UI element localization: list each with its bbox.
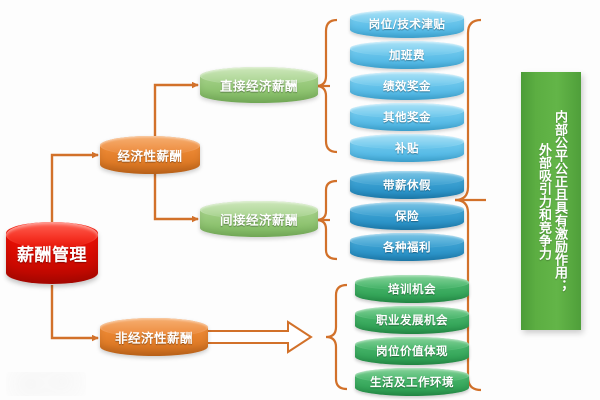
node-direct-economic[interactable]: 直接经济薪酬	[200, 67, 318, 103]
outcome-line-2: 外部吸引力和竞争力	[536, 143, 550, 260]
leaf-noneconomic-3[interactable]: 岗位价值体现	[355, 337, 469, 365]
node-noneconomic-label: 非经济性薪酬	[100, 328, 208, 347]
connector-layer	[0, 0, 600, 400]
node-economic[interactable]: 经济性薪酬	[100, 136, 200, 174]
leaf-direct-1[interactable]: 岗位/技术津贴	[350, 10, 464, 38]
brace-noneconomic-items	[326, 285, 347, 389]
leaf-indirect-3[interactable]: 各种福利	[350, 233, 464, 261]
leaf-direct-3[interactable]: 绩效奖金	[350, 72, 464, 100]
node-root-label: 薪酬管理	[6, 241, 98, 266]
leaf-indirect-1-label: 带薪休假	[350, 177, 464, 193]
node-indirect-economic-label: 间接经济薪酬	[200, 210, 318, 229]
node-root[interactable]: 薪酬管理	[6, 222, 98, 284]
watermark	[6, 372, 86, 396]
leaf-noneconomic-3-label: 岗位价值体现	[355, 343, 469, 359]
outcome-panel[interactable]: 内部公平公正且具有激励作用； 外部吸引力和竞争力	[521, 72, 581, 330]
node-direct-economic-label: 直接经济薪酬	[200, 76, 318, 95]
leaf-noneconomic-4-label: 生活及工作环境	[355, 374, 469, 390]
connector-root-to-noneconomic	[52, 285, 98, 338]
diagram-canvas: 薪酬管理 经济性薪酬 非经济性薪酬 直接经济薪酬 间接经济薪酬 岗位/技术津贴 …	[0, 0, 600, 400]
leaf-direct-2-label: 加班费	[350, 47, 464, 63]
leaf-indirect-2[interactable]: 保险	[350, 202, 464, 230]
leaf-noneconomic-1-label: 培训机会	[355, 281, 469, 297]
leaf-noneconomic-1[interactable]: 培训机会	[355, 275, 469, 303]
node-noneconomic[interactable]: 非经济性薪酬	[100, 318, 208, 356]
leaf-noneconomic-4[interactable]: 生活及工作环境	[355, 368, 469, 396]
leaf-direct-4-label: 其他奖金	[350, 109, 464, 125]
leaf-direct-3-label: 绩效奖金	[350, 78, 464, 94]
leaf-direct-5[interactable]: 补贴	[350, 134, 464, 162]
outcome-line-1: 内部公平公正且具有激励作用；	[552, 110, 566, 292]
leaf-indirect-2-label: 保险	[350, 208, 464, 224]
leaf-direct-5-label: 补贴	[350, 140, 464, 156]
connector-economic-to-indirect	[155, 172, 198, 219]
block-arrow-noneconomic	[207, 322, 311, 352]
node-indirect-economic[interactable]: 间接经济薪酬	[200, 201, 318, 237]
leaf-indirect-1[interactable]: 带薪休假	[350, 171, 464, 199]
node-economic-label: 经济性薪酬	[100, 146, 200, 165]
leaf-direct-2[interactable]: 加班费	[350, 41, 464, 69]
leaf-indirect-3-label: 各种福利	[350, 239, 464, 255]
leaf-direct-1-label: 岗位/技术津贴	[350, 16, 464, 32]
leaf-noneconomic-2-label: 职业发展机会	[355, 312, 469, 328]
leaf-direct-4[interactable]: 其他奖金	[350, 103, 464, 131]
leaf-noneconomic-2[interactable]: 职业发展机会	[355, 306, 469, 334]
